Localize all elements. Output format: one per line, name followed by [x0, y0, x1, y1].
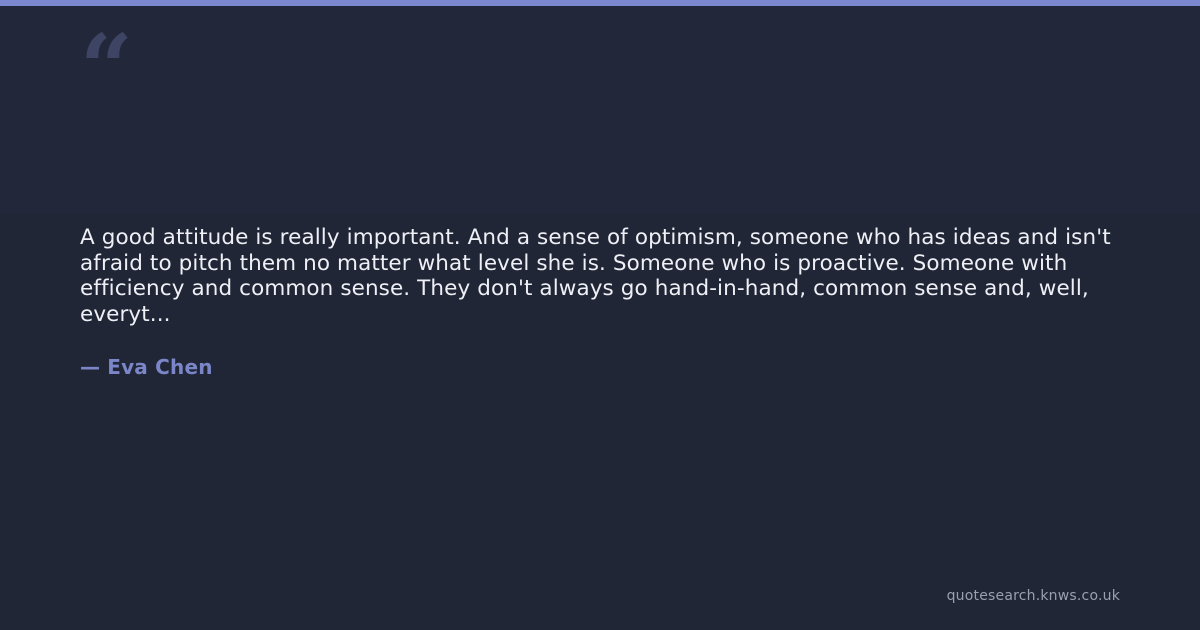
quote-text: A good attitude is really important. And…	[80, 225, 1125, 327]
author-name: Eva Chen	[107, 355, 212, 379]
top-accent-bar	[0, 0, 1200, 6]
quote-content: A good attitude is really important. And…	[80, 225, 1125, 379]
quote-attribution: —Eva Chen	[80, 355, 1125, 379]
opening-quote-icon: “	[80, 22, 131, 114]
source-site-label: quotesearch.knws.co.uk	[947, 588, 1120, 604]
quote-card: “ A good attitude is really important. A…	[0, 0, 1200, 630]
attribution-dash: —	[80, 355, 100, 379]
